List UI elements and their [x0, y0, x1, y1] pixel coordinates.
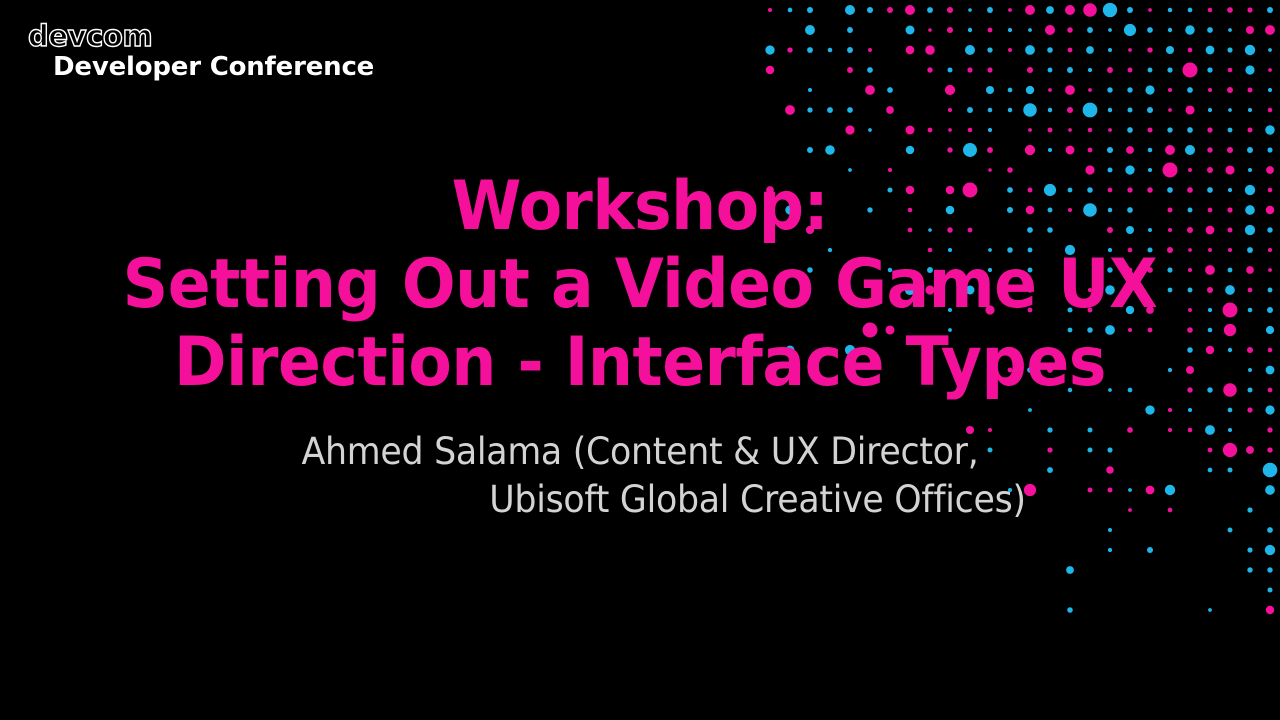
decorative-dot [1028, 128, 1032, 132]
subtitle-line-1: Ahmed Salama (Content & UX Director, [38, 428, 1241, 476]
decorative-dot [1025, 145, 1035, 155]
decorative-dot [1025, 5, 1035, 15]
decorative-dot [1048, 108, 1052, 112]
decorative-dot [1108, 528, 1112, 532]
decorative-dot [1108, 48, 1112, 52]
slide-subtitle: Ahmed Salama (Content & UX Director, Ubi… [0, 428, 1280, 524]
decorative-dot [1066, 146, 1075, 155]
decorative-dot [1227, 7, 1233, 13]
decorative-dot [766, 66, 774, 74]
decorative-dot [1127, 87, 1132, 92]
decorative-dot [1207, 127, 1212, 132]
decorative-dot [1227, 47, 1232, 52]
decorative-dot [1047, 47, 1053, 53]
decorative-dot [1083, 103, 1098, 118]
decorative-dot [1148, 68, 1153, 73]
decorative-dot [765, 45, 774, 54]
decorative-dot [1228, 528, 1233, 533]
decorative-dot [947, 27, 953, 33]
decorative-dot [1126, 146, 1134, 154]
decorative-dot [1208, 608, 1212, 612]
decorative-dot [965, 45, 975, 55]
decorative-dot [865, 85, 875, 95]
decorative-dot [1265, 25, 1275, 35]
devcom-logo: devcom Developer Conference [28, 22, 374, 80]
decorative-dot [807, 147, 813, 153]
decorative-dot [968, 28, 972, 32]
decorative-dot [1087, 27, 1093, 33]
decorative-dot [828, 48, 833, 53]
decorative-dot [1067, 607, 1073, 613]
decorative-dot [847, 47, 853, 53]
decorative-dot [1066, 566, 1074, 574]
decorative-dot [1187, 127, 1193, 133]
decorative-dot [1108, 28, 1112, 32]
decorative-dot [947, 7, 953, 13]
decorative-dot [1088, 88, 1092, 92]
decorative-dot [1227, 87, 1233, 93]
decorative-dot [1008, 88, 1013, 93]
decorative-dot [1023, 103, 1036, 116]
decorative-dot [906, 46, 915, 55]
decorative-dot [1268, 88, 1272, 92]
decorative-dot [1267, 587, 1272, 592]
decorative-dot [1247, 567, 1252, 572]
decorative-dot [1268, 68, 1272, 72]
decorative-dot [768, 8, 772, 12]
decorative-dot [1127, 127, 1133, 133]
decorative-dot [847, 27, 853, 33]
decorative-dot [1147, 107, 1153, 113]
decorative-dot [1265, 405, 1274, 414]
decorative-dot [1247, 547, 1252, 552]
decorative-dot [1108, 108, 1112, 112]
decorative-dot [1067, 27, 1073, 33]
decorative-dot [1048, 88, 1052, 92]
decorative-dot [867, 67, 873, 73]
decorative-dot [1245, 45, 1255, 55]
decorative-dot [867, 7, 873, 13]
decorative-dot [987, 47, 992, 52]
decorative-dot [1048, 68, 1053, 73]
decorative-dot [1065, 5, 1075, 15]
decorative-dot [988, 128, 992, 132]
decorative-dot [807, 107, 812, 112]
decorative-dot [805, 25, 815, 35]
decorative-dot [1267, 147, 1272, 152]
decorative-dot [1247, 127, 1252, 132]
decorative-dot [1185, 105, 1194, 114]
decorative-dot [1267, 7, 1273, 13]
decorative-dot [987, 7, 993, 13]
decorative-dot [807, 7, 813, 13]
decorative-dot [1124, 24, 1136, 36]
decorative-dot [845, 125, 854, 134]
decorative-dot [1207, 147, 1212, 152]
decorative-dot [1067, 67, 1073, 73]
decorative-dot [1027, 67, 1033, 73]
decorative-dot [868, 48, 872, 52]
decorative-dot [1068, 128, 1072, 132]
decorative-dot [945, 85, 955, 95]
title-line-3: Direction - Interface Types [45, 324, 1235, 402]
decorative-dot [1107, 147, 1113, 153]
decorative-dot [847, 67, 853, 73]
decorative-dot [1127, 7, 1133, 13]
decorative-dot [1228, 28, 1232, 32]
decorative-dot [1168, 88, 1172, 92]
decorative-dot [1267, 567, 1272, 572]
decorative-dot [1168, 408, 1172, 412]
decorative-dot [928, 128, 933, 133]
decorative-dot [988, 28, 993, 33]
decorative-dot [807, 47, 813, 53]
decorative-dot [1248, 88, 1253, 93]
decorative-dot [1207, 67, 1212, 72]
decorative-dot [1045, 25, 1055, 35]
decorative-dot [1147, 27, 1153, 33]
decorative-dot [927, 7, 933, 13]
decorative-dot [827, 107, 833, 113]
decorative-dot [1147, 47, 1152, 52]
decorative-dot [1167, 67, 1172, 72]
decorative-dot [1228, 408, 1233, 413]
decorative-dot [1083, 3, 1097, 17]
decorative-dot [1046, 6, 1054, 14]
decorative-dot [1008, 108, 1012, 112]
decorative-dot [1168, 108, 1172, 112]
decorative-dot [1228, 108, 1232, 112]
decorative-dot [887, 7, 893, 13]
decorative-dot [1127, 107, 1132, 112]
decorative-dot [1025, 45, 1035, 55]
decorative-dot [1048, 148, 1052, 152]
decorative-dot [1028, 28, 1032, 32]
decorative-dot [967, 67, 972, 72]
decorative-dot [1147, 127, 1152, 132]
decorative-dot [968, 8, 972, 12]
decorative-dot [1168, 8, 1172, 12]
decorative-dot [947, 147, 952, 152]
decorative-dot [1167, 127, 1172, 132]
decorative-dot [1103, 3, 1117, 17]
devcom-wordmark: devcom [28, 22, 374, 51]
decorative-dot [968, 128, 973, 133]
decorative-dot [1266, 606, 1274, 614]
decorative-dot [1188, 48, 1193, 53]
decorative-dot [988, 108, 993, 113]
decorative-dot [1065, 85, 1075, 95]
decorative-dot [845, 5, 855, 15]
decorative-dot [1026, 86, 1034, 94]
decorative-dot [868, 128, 872, 132]
decorative-dot [1028, 408, 1032, 412]
subtitle-line-2: Ubisoft Global Creative Offices) [38, 476, 1241, 524]
decorative-dot [906, 26, 915, 35]
decorative-dot [1228, 68, 1233, 73]
decorative-dot [1208, 8, 1213, 13]
decorative-dot [1188, 408, 1192, 412]
decorative-dot [1245, 65, 1254, 74]
developer-conference-tagline: Developer Conference [53, 54, 374, 80]
decorative-dot [1227, 147, 1233, 153]
decorative-dot [1265, 125, 1274, 134]
decorative-dot [1265, 545, 1275, 555]
decorative-dot [1128, 68, 1133, 73]
decorative-dot [1208, 88, 1212, 92]
decorative-dot [1086, 46, 1094, 54]
decorative-dot [905, 5, 915, 15]
decorative-dot [1188, 8, 1193, 13]
decorative-dot [808, 88, 812, 92]
decorative-dot [925, 45, 935, 55]
decorative-dot [1166, 46, 1174, 54]
decorative-dot [1268, 48, 1272, 52]
decorative-dot [1088, 148, 1093, 153]
decorative-dot [1185, 145, 1195, 155]
decorative-dot [906, 126, 915, 135]
decorative-dot [847, 107, 853, 113]
decorative-dot [887, 87, 893, 93]
decorative-dot [1008, 8, 1012, 12]
decorative-dot [948, 128, 952, 132]
decorative-dot [1268, 108, 1273, 113]
presentation-slide: devcom Developer Conference Workshop: Se… [0, 0, 1280, 720]
decorative-dot [1067, 107, 1073, 113]
decorative-dot [1108, 128, 1112, 132]
decorative-dot [1107, 87, 1112, 92]
decorative-dot [967, 107, 973, 113]
decorative-dot [886, 106, 894, 114]
decorative-dot [1207, 27, 1213, 33]
decorative-dot [1108, 548, 1112, 552]
decorative-dot [1148, 8, 1152, 12]
decorative-dot [1008, 48, 1012, 52]
decorative-dot [1128, 48, 1132, 52]
decorative-dot [1088, 68, 1092, 72]
title-line-1: Workshop: [45, 168, 1235, 246]
slide-title: Workshop: Setting Out a Video Game UX Di… [0, 168, 1280, 402]
decorative-dot [1187, 87, 1193, 93]
decorative-dot [1228, 128, 1233, 133]
decorative-dot [963, 143, 977, 157]
decorative-dot [1183, 63, 1198, 78]
decorative-dot [987, 67, 992, 72]
decorative-dot [1088, 128, 1092, 132]
decorative-dot [1208, 108, 1212, 112]
decorative-dot [788, 8, 793, 13]
decorative-dot [1246, 26, 1254, 34]
decorative-dot [927, 67, 932, 72]
decorative-dot [1165, 145, 1175, 155]
decorative-dot [906, 146, 914, 154]
decorative-dot [987, 147, 993, 153]
decorative-dot [1185, 25, 1194, 34]
decorative-dot [948, 108, 952, 112]
decorative-dot [1168, 28, 1172, 32]
decorative-dot [1247, 147, 1253, 153]
decorative-dot [1267, 527, 1273, 533]
decorative-dot [785, 105, 795, 115]
decorative-dot [1145, 85, 1154, 94]
decorative-dot [1247, 407, 1252, 412]
decorative-dot [986, 86, 994, 94]
decorative-dot [1248, 108, 1252, 112]
title-line-2: Setting Out a Video Game UX [45, 246, 1235, 324]
decorative-dot [1247, 7, 1252, 12]
decorative-dot [1107, 67, 1113, 73]
decorative-dot [947, 67, 952, 72]
decorative-dot [1145, 405, 1154, 414]
decorative-dot [1048, 128, 1053, 133]
decorative-dot [825, 145, 835, 155]
decorative-dot [787, 47, 792, 52]
decorative-dot [1008, 28, 1012, 32]
decorative-dot [1068, 48, 1073, 53]
decorative-dot [1206, 46, 1215, 55]
decorative-dot [1147, 547, 1153, 553]
decorative-dot [1148, 148, 1153, 153]
decorative-dot [928, 28, 932, 32]
